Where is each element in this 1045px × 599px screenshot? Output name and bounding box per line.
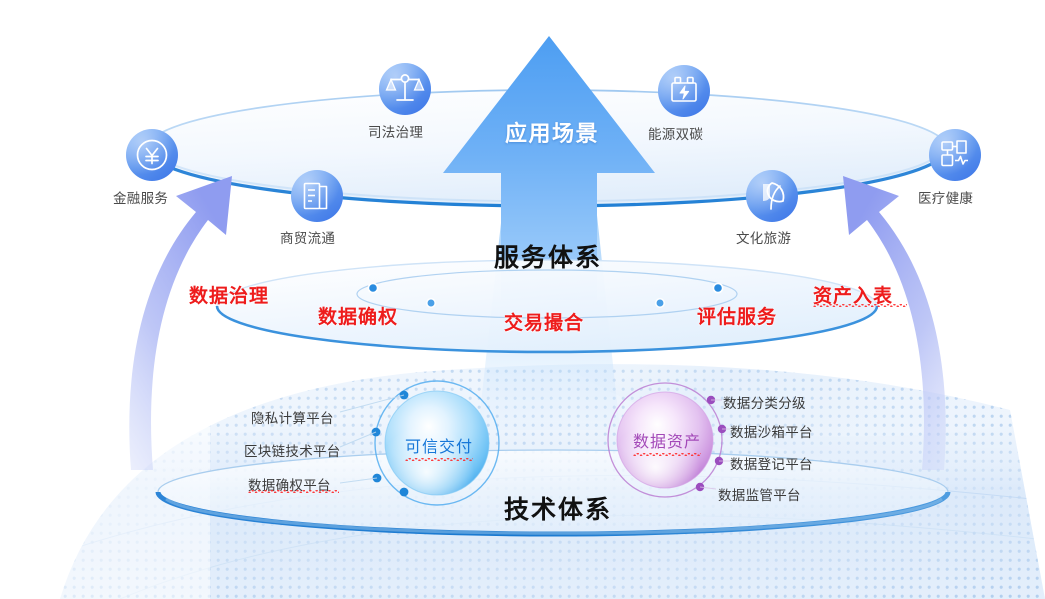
- scenario-icon-商贸流通[interactable]: [291, 170, 343, 222]
- technology-platform: [158, 450, 948, 534]
- upward-flow-arrow-left: [129, 176, 232, 470]
- scenario-icon-文化旅游[interactable]: [746, 170, 798, 222]
- scenario-icon-医疗健康[interactable]: [929, 129, 981, 181]
- scenario-icon-金融服务[interactable]: [126, 129, 178, 181]
- upward-flow-arrow-right: [843, 176, 946, 470]
- diagram-vector-layer: [0, 0, 1045, 599]
- scenario-icon-能源双碳[interactable]: [658, 65, 710, 117]
- scenario-icon-司法治理[interactable]: [379, 63, 431, 115]
- diagram-canvas: 应用场景 金融服务 司法治理 商贸流通 能源双碳 文化旅游 医疗健康 服务体系 …: [0, 0, 1045, 599]
- service-ring: [217, 260, 877, 352]
